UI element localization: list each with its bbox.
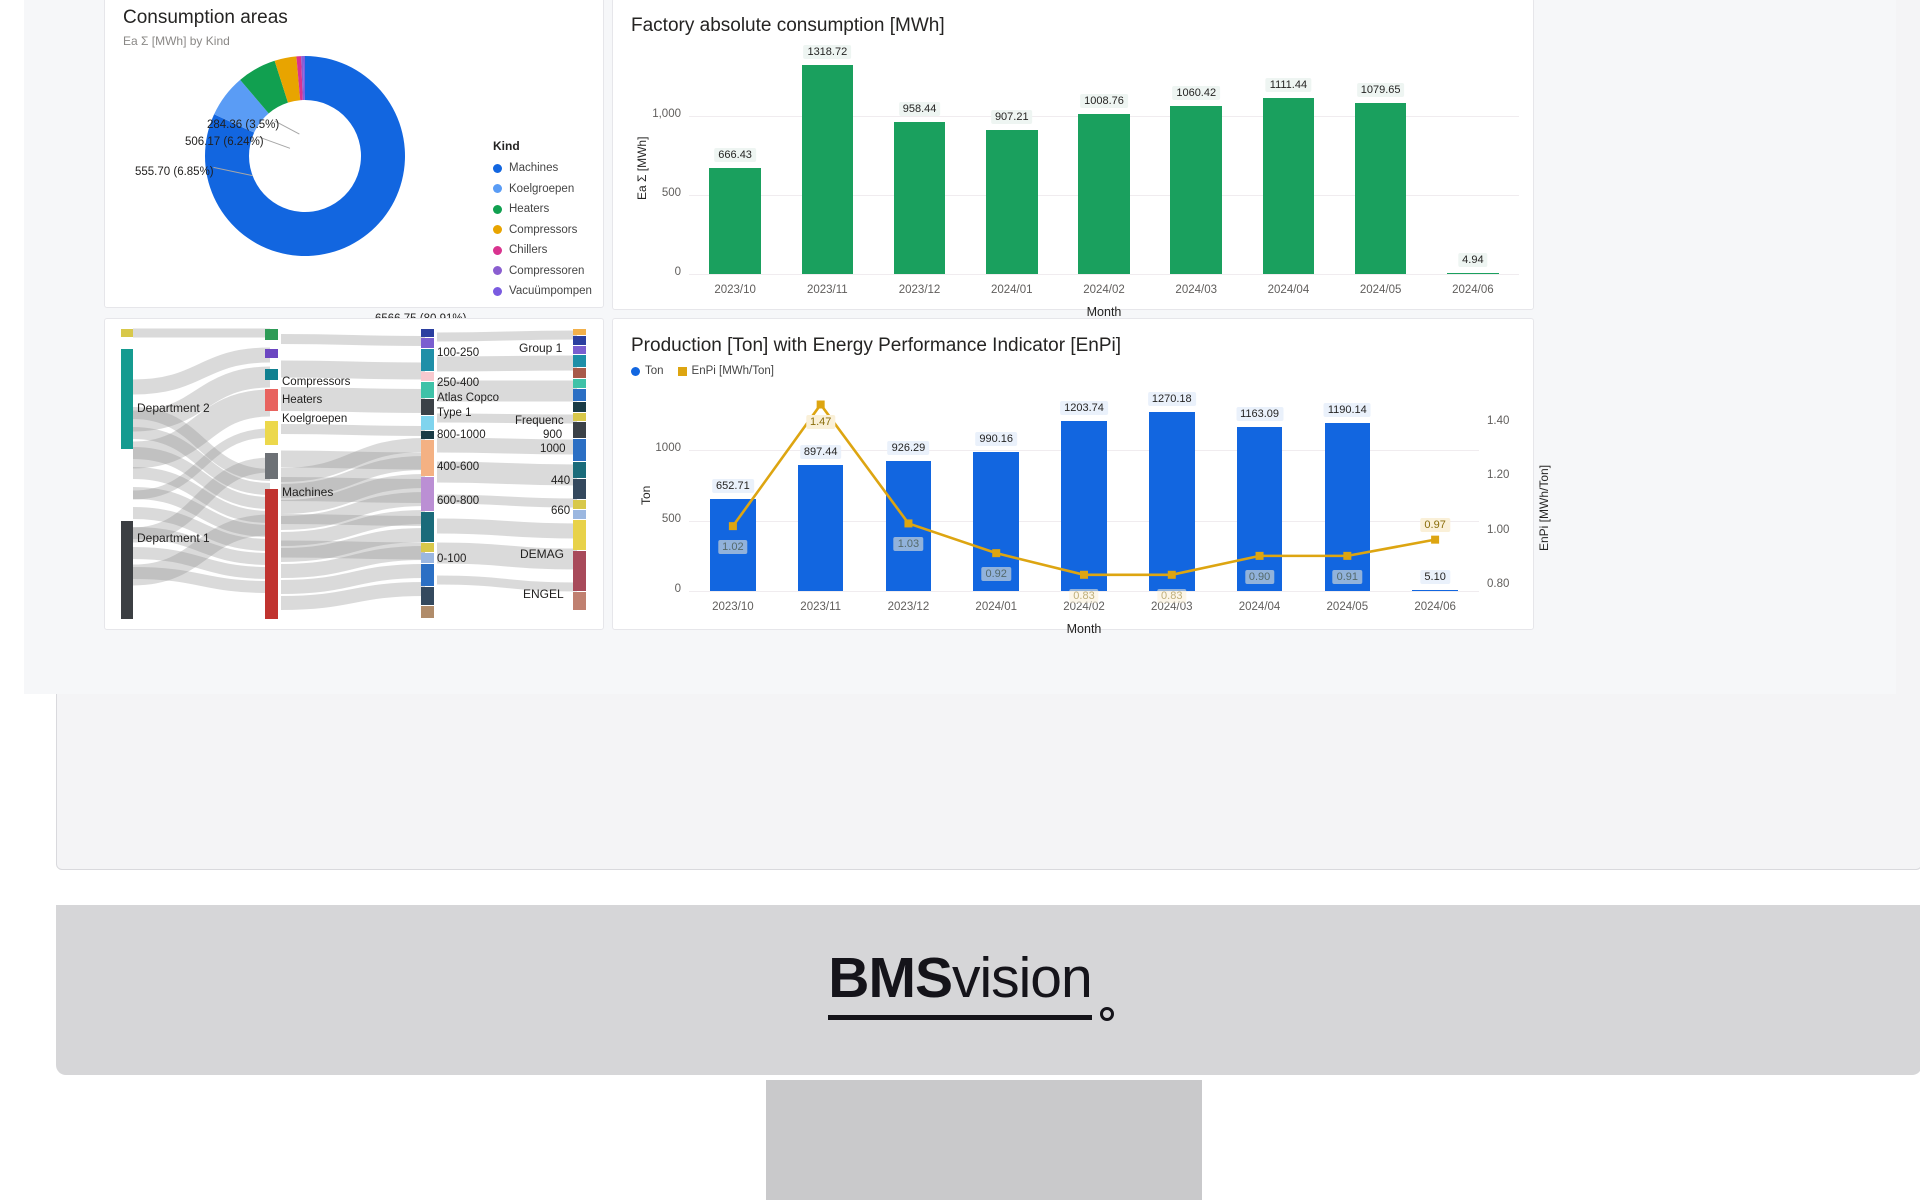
legend-label: Vacuümpompen — [509, 285, 592, 297]
donut-legend-item[interactable]: Koelgroepen — [493, 183, 603, 195]
y2-axis-tick: 0.80 — [1487, 578, 1527, 590]
sankey-node-far[interactable] — [573, 462, 586, 478]
bar[interactable] — [709, 168, 761, 274]
sankey-node-far[interactable] — [573, 355, 586, 367]
sankey-node-far[interactable] — [573, 510, 586, 519]
sankey-node-right[interactable] — [421, 606, 434, 618]
sankey-node-right[interactable] — [421, 338, 434, 348]
bar[interactable] — [802, 65, 854, 274]
sankey-node-far[interactable] — [573, 389, 586, 401]
bar-value-label: 5.10 — [1420, 570, 1449, 584]
x-axis-tick: 2023/11 — [773, 601, 869, 613]
sankey-node-label: 600-800 — [437, 495, 479, 507]
sankey-node-koelgroepen[interactable] — [265, 453, 278, 479]
sankey-node-mid-2[interactable] — [265, 349, 278, 358]
y-axis-tick: 0 — [633, 583, 681, 595]
sankey-link[interactable] — [437, 363, 577, 364]
donut-legend-item[interactable]: Vacuümpompen — [493, 285, 603, 297]
gridline — [689, 274, 1519, 275]
enpi-value-label: 0.91 — [1333, 570, 1362, 584]
sankey-node-label: 0-100 — [437, 553, 466, 565]
sankey-node-far[interactable] — [573, 379, 586, 388]
sankey-node-label: 400-600 — [437, 461, 479, 473]
factory-consumption-chart: 05001,000666.432023/101318.722023/11958.… — [613, 0, 1535, 311]
legend-dot-icon — [493, 266, 502, 275]
x-axis-title: Month — [1054, 622, 1114, 636]
y-axis-tick: 500 — [633, 513, 681, 525]
sankey-node-far[interactable] — [573, 422, 586, 438]
sankey-node-far[interactable] — [573, 346, 586, 354]
bar-value-label: 652.71 — [712, 479, 754, 493]
bar[interactable] — [1149, 412, 1195, 591]
legend-dot-icon — [493, 164, 502, 173]
bar-value-label: 1111.44 — [1266, 78, 1311, 92]
sankey-node-department2[interactable] — [121, 349, 133, 449]
bar-value-label: 1203.74 — [1060, 401, 1108, 415]
sankey-link[interactable] — [281, 429, 425, 431]
sankey-node-right[interactable] — [421, 431, 434, 439]
sankey-node-label: Machines — [282, 485, 333, 499]
y-axis-tick: 1,000 — [633, 108, 681, 120]
logo-vision: vision — [952, 946, 1092, 1010]
enpi-marker[interactable] — [817, 401, 825, 409]
sankey-node-mid-3[interactable] — [265, 369, 278, 380]
sankey-node-label: Department 1 — [137, 531, 210, 545]
bar[interactable] — [986, 130, 1038, 274]
bar[interactable] — [1237, 427, 1283, 591]
bar-value-label: 1008.76 — [1080, 94, 1128, 108]
x-axis-tick: 2023/10 — [685, 601, 781, 613]
bar[interactable] — [1447, 273, 1499, 275]
bar[interactable] — [1078, 114, 1130, 274]
sankey-node-machines[interactable] — [265, 489, 278, 619]
y-axis-title: Ton — [639, 486, 653, 505]
x-axis-tick: 2024/04 — [1240, 284, 1336, 296]
legend-dot-icon — [493, 205, 502, 214]
sankey-node-compressors[interactable] — [265, 389, 278, 411]
y-axis-tick: 0 — [633, 266, 681, 278]
sankey-node-right[interactable] — [421, 416, 434, 430]
sankey-card: Department 2Department 1CompressorsHeate… — [104, 318, 604, 630]
donut-legend-item[interactable]: Compressors — [493, 224, 603, 236]
bar-value-label: 1190.14 — [1324, 403, 1371, 417]
bar-value-label: 958.44 — [899, 102, 941, 116]
x-axis-tick: 2023/12 — [872, 284, 968, 296]
sankey-link[interactable] — [437, 335, 577, 337]
sankey-node-label: Group 1 — [519, 341, 562, 355]
sankey-node-far[interactable] — [573, 592, 586, 610]
sankey-node-right[interactable] — [421, 553, 434, 563]
donut-legend: Kind MachinesKoelgroepenHeatersCompresso… — [493, 139, 603, 306]
sankey-node-far[interactable] — [573, 402, 586, 412]
bar-value-label: 907.21 — [991, 110, 1033, 124]
legend-dot-icon — [493, 184, 502, 193]
sankey-link[interactable] — [281, 339, 425, 341]
bar-value-label: 897.44 — [800, 445, 842, 459]
enpi-value-label: 1.47 — [806, 415, 835, 429]
sankey-node-label: Frequenc — [515, 415, 564, 427]
x-axis-tick: 2024/03 — [1148, 284, 1244, 296]
legend-dot-icon — [493, 246, 502, 255]
sankey-node-right[interactable] — [421, 512, 434, 542]
sankey-node-label: Atlas Copco — [437, 392, 499, 404]
sankey-node-label: 800-1000 — [437, 429, 486, 441]
enpi-value-label: 1.02 — [718, 540, 747, 554]
sankey-node-right[interactable] — [421, 543, 434, 552]
bar[interactable] — [1061, 421, 1107, 591]
sankey-link[interactable] — [437, 580, 577, 587]
dashboard-screen: Consumption areas Ea Σ [MWh] by Kind 284… — [24, 0, 1896, 694]
bar[interactable] — [886, 461, 932, 591]
donut-callout-heaters: 506.17 (6.24%) — [185, 136, 264, 148]
sankey-node-right[interactable] — [421, 329, 434, 337]
sankey-node-far[interactable] — [573, 479, 586, 499]
bar-value-label: 1060.42 — [1172, 86, 1220, 100]
sankey-node-label: 440 — [551, 475, 570, 487]
bar[interactable] — [1170, 106, 1222, 274]
logo-dot-icon — [1100, 1007, 1114, 1021]
bmsvision-logo: BMSvision — [0, 945, 1920, 1020]
enpi-value-label: 0.97 — [1420, 518, 1449, 532]
sankey-node-mid-1[interactable] — [265, 329, 278, 340]
sankey-node-label: 1000 — [540, 443, 566, 455]
consumption-areas-card: Consumption areas Ea Σ [MWh] by Kind 284… — [104, 0, 604, 308]
bar-value-label: 1079.65 — [1357, 83, 1405, 97]
x-axis-tick: 2024/02 — [1036, 601, 1132, 613]
enpi-value-label: 1.03 — [894, 537, 923, 551]
bar[interactable] — [1263, 98, 1315, 274]
x-axis-tick: 2024/06 — [1425, 284, 1521, 296]
sankey-diagram: Department 2Department 1CompressorsHeate… — [115, 325, 597, 625]
x-axis-title: Month — [1074, 305, 1134, 319]
y-axis-tick: 1000 — [633, 442, 681, 454]
bar[interactable] — [1412, 590, 1458, 592]
sankey-node-label: Heaters — [282, 394, 322, 406]
donut-legend-title: Kind — [493, 139, 603, 153]
bar-value-label: 1318.72 — [803, 45, 851, 59]
sankey-node-far[interactable] — [573, 439, 586, 461]
sankey-node-label: Koelgroepen — [282, 413, 347, 425]
sankey-node-far[interactable] — [573, 551, 586, 591]
sankey-node-heaters[interactable] — [265, 421, 278, 445]
x-axis-tick: 2024/02 — [1056, 284, 1152, 296]
x-axis-tick: 2023/12 — [860, 601, 956, 613]
sankey-node-label: ENGEL — [523, 587, 564, 601]
sankey-link[interactable] — [437, 526, 577, 531]
sankey-node-far[interactable] — [573, 413, 586, 421]
bar[interactable] — [1355, 103, 1407, 274]
bar[interactable] — [1325, 423, 1371, 591]
x-axis-tick: 2024/01 — [964, 284, 1060, 296]
y-axis-title: Ea Σ [MWh] — [635, 136, 649, 199]
sankey-node-top-left[interactable] — [121, 329, 133, 337]
legend-label: Heaters — [509, 203, 549, 215]
x-axis-tick: 2024/05 — [1299, 601, 1395, 613]
x-axis-tick: 2023/11 — [779, 284, 875, 296]
sankey-node-label: Type 1 — [437, 407, 472, 419]
sankey-node-right[interactable] — [421, 564, 434, 586]
sankey-node-label: 900 — [543, 429, 562, 441]
bar-value-label: 926.29 — [888, 441, 930, 455]
x-axis-tick: 2024/05 — [1333, 284, 1429, 296]
x-axis-tick: 2024/03 — [1124, 601, 1220, 613]
sankey-node-far[interactable] — [573, 336, 586, 345]
monitor-stand-neck — [766, 1080, 1202, 1200]
y2-axis-tick: 1.40 — [1487, 415, 1527, 427]
sankey-node-far[interactable] — [573, 368, 586, 378]
donut-svg — [200, 51, 410, 261]
logo-bms: BMS — [828, 946, 952, 1010]
bar-value-label: 1163.09 — [1236, 407, 1283, 421]
donut-legend-item[interactable]: Machines — [493, 162, 603, 174]
donut-callout-koelgroepen: 555.70 (6.85%) — [135, 166, 214, 178]
bar-value-label: 990.16 — [975, 432, 1017, 446]
donut-legend-item[interactable]: Compressoren — [493, 265, 603, 277]
sankey-svg — [115, 325, 597, 625]
legend-label: Chillers — [509, 244, 547, 256]
enpi-value-label: 0.90 — [1245, 570, 1274, 584]
donut-callout-compressors: 284.36 (3.5%) — [207, 119, 279, 131]
bar[interactable] — [894, 122, 946, 274]
sankey-node-far[interactable] — [573, 500, 586, 509]
bar-value-label: 666.43 — [714, 148, 756, 162]
sankey-node-label: 660 — [551, 505, 570, 517]
bar-value-label: 1270.18 — [1148, 392, 1196, 406]
sankey-node-far[interactable] — [573, 329, 586, 335]
legend-label: Compressoren — [509, 265, 584, 277]
sankey-node-right[interactable] — [421, 399, 434, 415]
sankey-node-right[interactable] — [421, 382, 434, 398]
factory-consumption-card: Factory absolute consumption [MWh] 05001… — [612, 0, 1534, 310]
legend-label: Compressors — [509, 224, 577, 236]
donut-legend-item[interactable]: Heaters — [493, 203, 603, 215]
enpi-value-label: 0.83 — [1069, 589, 1098, 603]
x-axis-tick: 2024/04 — [1212, 601, 1308, 613]
legend-label: Machines — [509, 162, 558, 174]
legend-label: Koelgroepen — [509, 183, 574, 195]
x-axis-tick: 2024/01 — [948, 601, 1044, 613]
enpi-value-label: 0.83 — [1157, 589, 1186, 603]
y2-axis-tick: 1.20 — [1487, 469, 1527, 481]
sankey-node-right[interactable] — [421, 587, 434, 605]
legend-dot-icon — [493, 225, 502, 234]
sankey-node-label: 100-250 — [437, 347, 479, 359]
bar-value-label: 4.94 — [1458, 253, 1487, 267]
y2-axis-title: EnPi [MWh/Ton] — [1537, 465, 1551, 551]
sankey-node-far[interactable] — [573, 520, 586, 550]
bar[interactable] — [798, 465, 844, 591]
enpi-marker[interactable] — [1431, 536, 1439, 544]
sankey-node-label: 250-400 — [437, 377, 479, 389]
sankey-link[interactable] — [281, 369, 425, 371]
sankey-node-label: Compressors — [282, 376, 350, 388]
sankey-node-right[interactable] — [421, 440, 434, 476]
sankey-node-right[interactable] — [421, 349, 434, 371]
donut-legend-item[interactable]: Chillers — [493, 244, 603, 256]
sankey-node-label: DEMAG — [520, 547, 564, 561]
donut-card-title: Consumption areas — [123, 7, 603, 29]
sankey-node-department1[interactable] — [121, 521, 133, 619]
legend-dot-icon — [493, 287, 502, 296]
production-chart: 050010000.801.001.201.40652.712023/10897… — [613, 319, 1535, 631]
y2-axis-tick: 1.00 — [1487, 524, 1527, 536]
x-axis-tick: 2024/06 — [1387, 601, 1483, 613]
donut-chart: 284.36 (3.5%) 506.17 (6.24%) 555.70 (6.8… — [105, 41, 575, 291]
sankey-node-right[interactable] — [421, 477, 434, 511]
production-enpi-card: Production [Ton] with Energy Performance… — [612, 318, 1534, 630]
x-axis-tick: 2023/10 — [687, 284, 783, 296]
sankey-node-label: Department 2 — [137, 401, 210, 415]
enpi-value-label: 0.92 — [982, 567, 1011, 581]
sankey-node-right[interactable] — [421, 372, 434, 381]
